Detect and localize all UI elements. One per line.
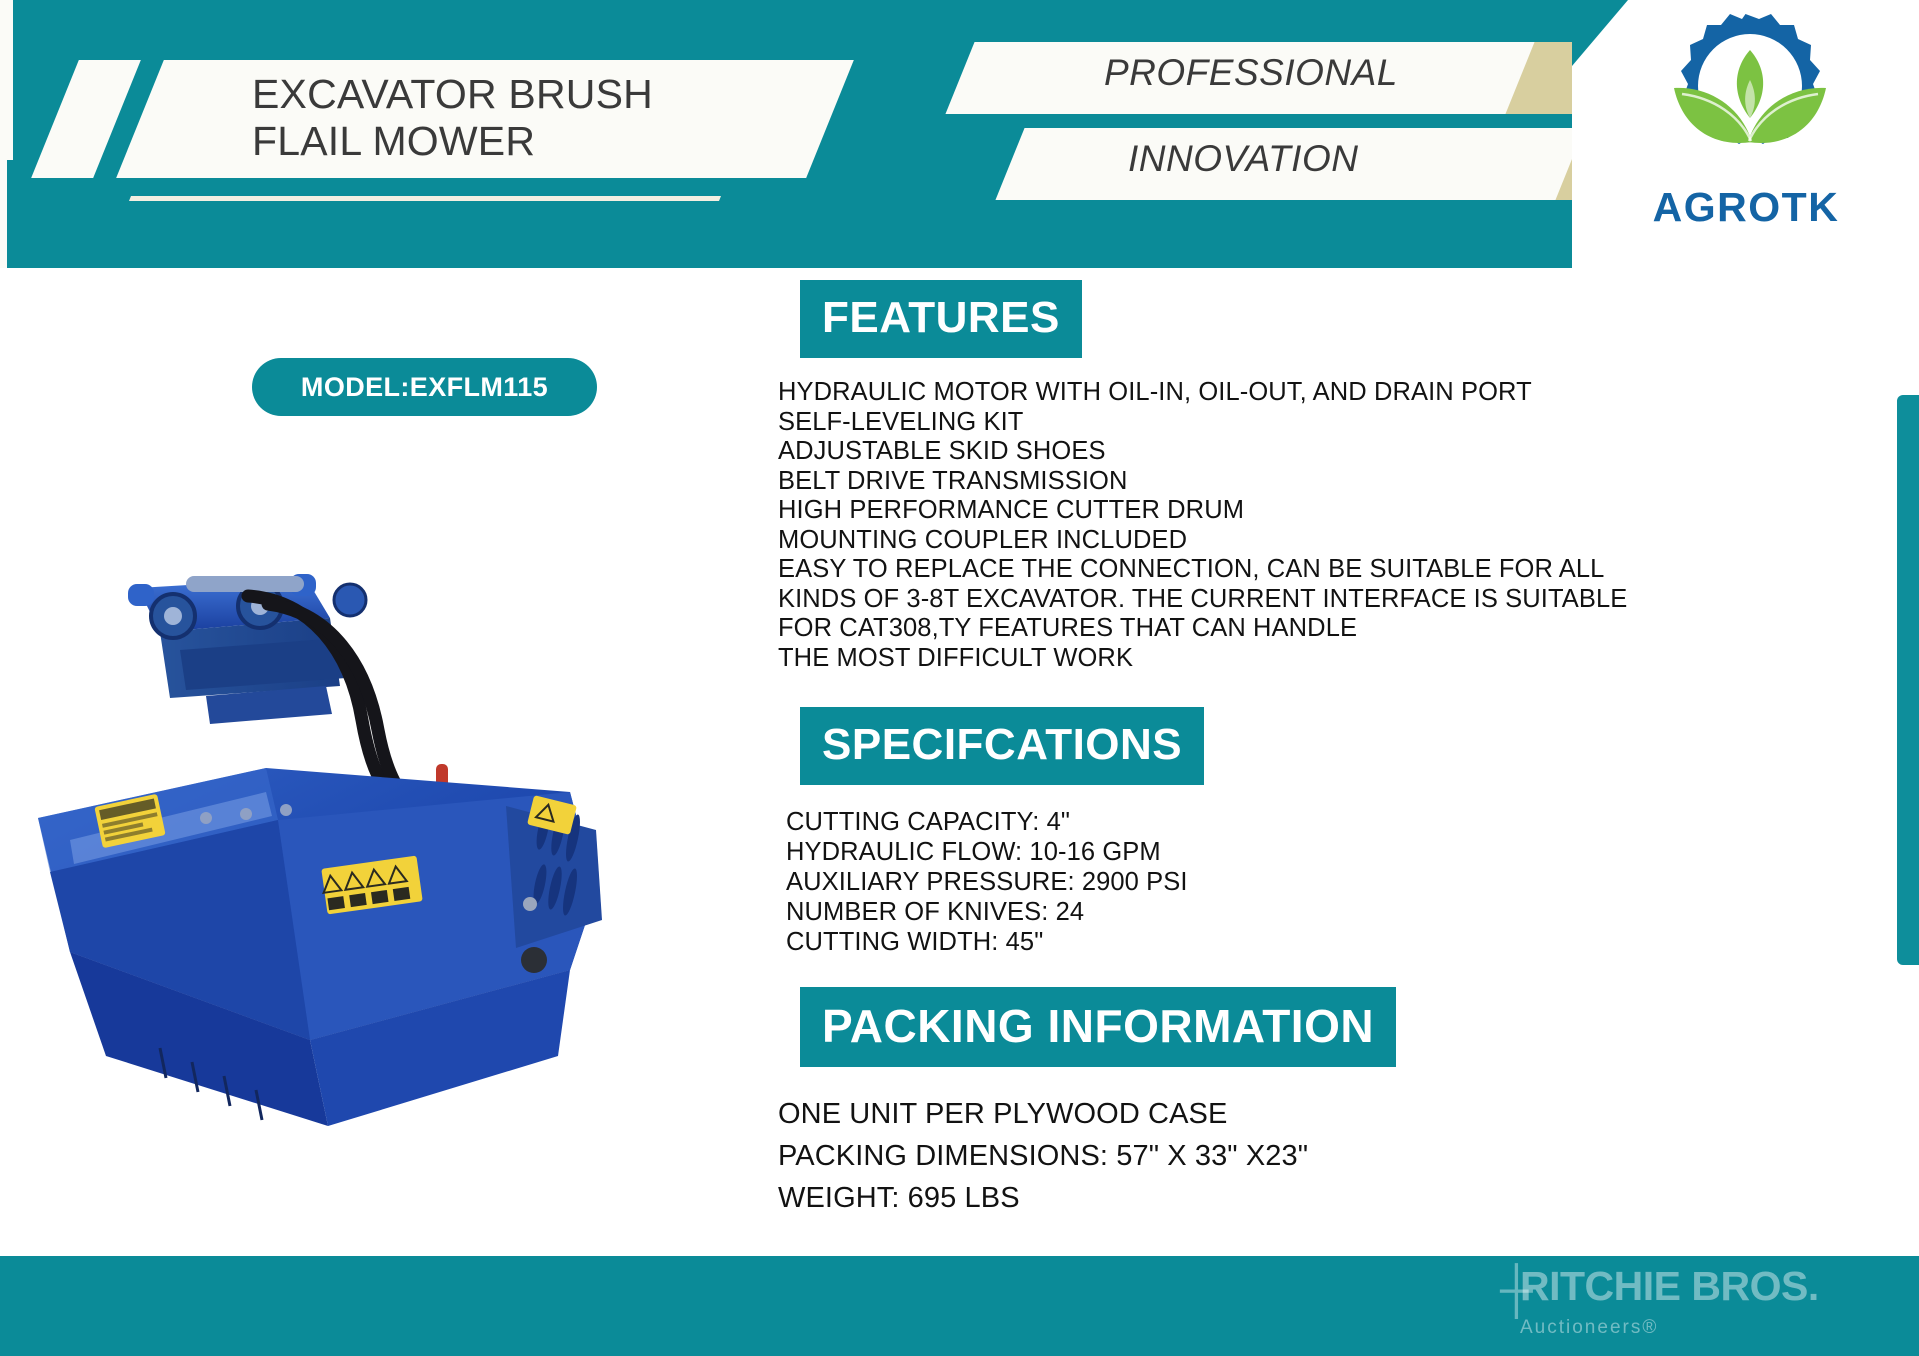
product-photo-flail-mower bbox=[10, 500, 730, 1140]
features-heading: FEATURES bbox=[800, 280, 1082, 358]
header-decor-bar-c bbox=[0, 160, 7, 268]
packing-list: ONE UNIT PER PLYWOOD CASE PACKING DIMENS… bbox=[778, 1093, 1838, 1219]
gear-leaf-icon bbox=[1638, 8, 1853, 188]
packing-heading: PACKING INFORMATION bbox=[800, 987, 1396, 1067]
tagline-innovation: INNOVATION bbox=[1128, 138, 1358, 180]
specifications-heading: SPECIFCATIONS bbox=[800, 707, 1204, 785]
specifications-list: CUTTING CAPACITY: 4" HYDRAULIC FLOW: 10-… bbox=[786, 807, 1838, 957]
page-title: EXCAVATOR BRUSH FLAIL MOWER bbox=[252, 71, 812, 165]
header-title-underline bbox=[129, 196, 721, 201]
watermark-sub: Auctioneers® bbox=[1520, 1307, 1910, 1349]
page-header: EXCAVATOR BRUSH FLAIL MOWER PROFESSIONAL… bbox=[0, 0, 1919, 268]
model-badge: MODEL:EXFLM115 bbox=[252, 358, 597, 416]
ritchie-bros-watermark: RITCHIE BROS. Auctioneers® bbox=[1520, 1265, 1910, 1345]
brand-logo: AGROTK bbox=[1610, 8, 1882, 263]
side-scroll-tab[interactable] bbox=[1897, 395, 1919, 965]
spec-content-column: FEATURES HYDRAULIC MOTOR WITH OIL-IN, OI… bbox=[778, 280, 1838, 1219]
watermark-main: RITCHIE BROS. bbox=[1520, 1265, 1910, 1307]
brand-name: AGROTK bbox=[1610, 184, 1882, 231]
product-spec-sheet: EXCAVATOR BRUSH FLAIL MOWER PROFESSIONAL… bbox=[0, 0, 1919, 1356]
features-list: HYDRAULIC MOTOR WITH OIL-IN, OIL-OUT, AN… bbox=[778, 378, 1838, 673]
tagline-professional: PROFESSIONAL bbox=[1104, 52, 1398, 94]
header-decor-bar-b bbox=[0, 0, 13, 160]
